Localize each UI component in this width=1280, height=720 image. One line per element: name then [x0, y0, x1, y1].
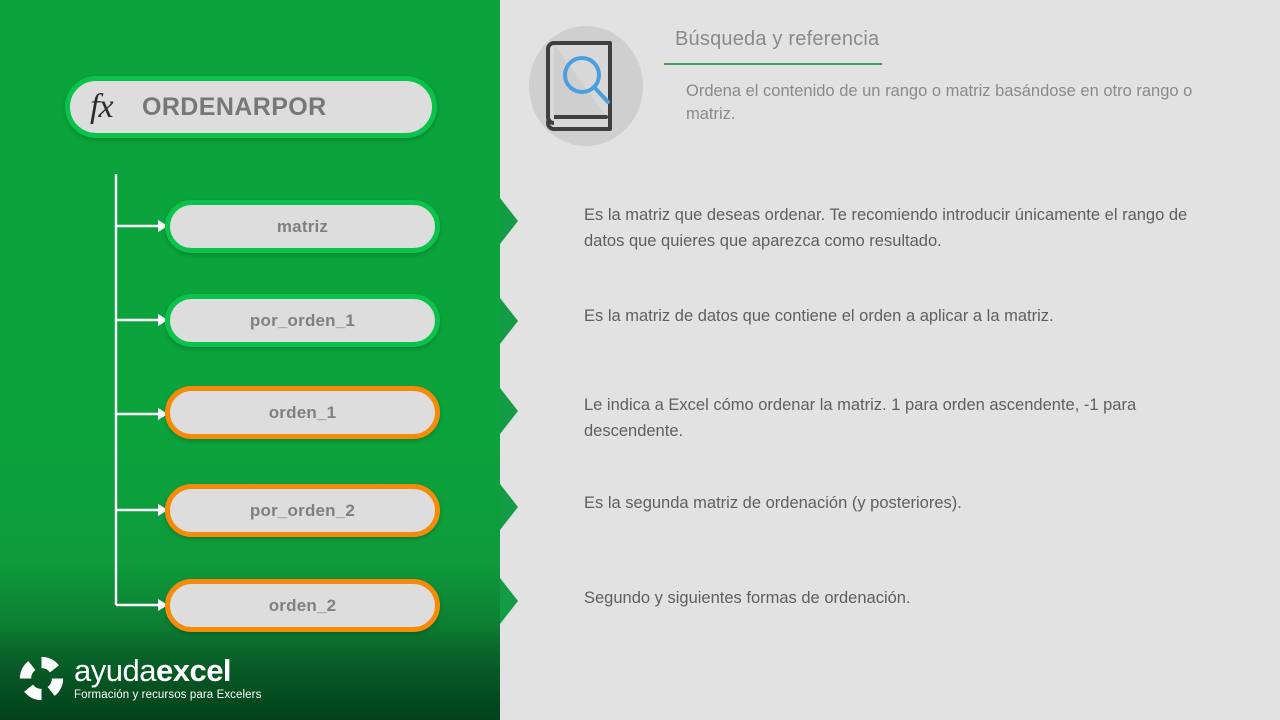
chevron-right-icon-2 [500, 298, 536, 344]
brand-logo: ayudaexcel Formación y recursos para Exc… [18, 655, 261, 702]
arg-pill-matriz[interactable]: matriz [165, 200, 440, 253]
right-content-panel: Búsqueda y referencia Ordena el contenid… [500, 0, 1280, 720]
chevron-right-icon-3 [500, 388, 536, 434]
category-underline [664, 63, 882, 65]
chevron-right-icon-1 [500, 198, 536, 244]
lifebuoy-ring-icon [18, 655, 65, 702]
arg-description-por_orden_2: Es la segunda matriz de ordenación (y po… [584, 491, 1224, 517]
book-search-icon [528, 25, 645, 147]
category-title: Búsqueda y referencia [675, 28, 879, 51]
function-name-pill[interactable]: fx ORDENARPOR [65, 76, 437, 138]
arg-pill-orden_1[interactable]: orden_1 [165, 386, 440, 439]
arg-description-orden_1: Le indica a Excel cómo ordenar la matriz… [584, 393, 1224, 444]
category-description: Ordena el contenido de un rango o matriz… [686, 80, 1221, 127]
arg-pill-orden_2[interactable]: orden_2 [165, 579, 440, 632]
brand-tagline: Formación y recursos para Excelers [74, 690, 261, 702]
chevron-right-icon-5 [500, 578, 536, 624]
arg-pill-por_orden_2[interactable]: por_orden_2 [165, 484, 440, 537]
fx-icon: fx [90, 90, 142, 124]
arg-description-orden_2: Segundo y siguientes formas de ordenació… [584, 586, 1224, 612]
arg-label: orden_1 [269, 403, 337, 423]
arg-label: orden_2 [269, 596, 337, 616]
arg-label: por_orden_1 [250, 311, 355, 331]
arg-label: por_orden_2 [250, 501, 355, 521]
infographic-root: fx ORDENARPOR matriz por_orden_1 orden_1… [0, 0, 1280, 720]
brand-name-light: ayuda [74, 653, 156, 688]
arg-description-matriz: Es la matriz que deseas ordenar. Te reco… [584, 203, 1224, 254]
function-name-label: ORDENARPOR [142, 93, 327, 122]
arg-pill-por_orden_1[interactable]: por_orden_1 [165, 294, 440, 347]
chevron-right-icon-4 [500, 484, 536, 530]
brand-name-bold: excel [156, 653, 231, 688]
arg-label: matriz [277, 217, 328, 237]
arg-description-por_orden_1: Es la matriz de datos que contiene el or… [584, 304, 1224, 330]
brand-name: ayudaexcel [74, 655, 261, 686]
